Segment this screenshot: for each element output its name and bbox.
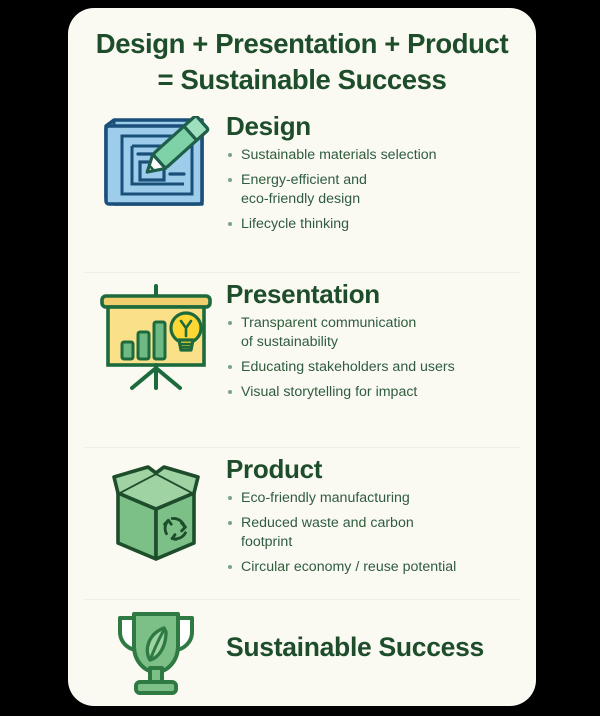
design-bullet-list: Sustainable materials selection Energy-e… xyxy=(226,146,514,233)
presentation-board-icon xyxy=(96,284,216,396)
list-item: Educating stakeholders and users xyxy=(226,358,514,377)
trophy-leaf-icon xyxy=(108,606,204,696)
design-text-container: Design Sustainable materials selection E… xyxy=(226,110,514,240)
list-item: Sustainable materials selection xyxy=(226,146,514,165)
section-presentation: Presentation Transparent communicationof… xyxy=(68,272,536,447)
list-item: Transparent communicationof sustainabili… xyxy=(226,314,514,351)
design-heading: Design xyxy=(226,112,514,142)
infographic-card: Design + Presentation + Product = Sustai… xyxy=(68,8,536,706)
title-line-2: = Sustainable Success xyxy=(94,62,510,98)
section-sustainable-success: Sustainable Success xyxy=(68,599,536,693)
product-text-container: Product Eco-friendly manufacturing Reduc… xyxy=(226,453,514,583)
presentation-text-container: Presentation Transparent communicationof… xyxy=(226,278,514,408)
list-item: Energy-efficient andeco-friendly design xyxy=(226,171,514,208)
recycling-box-icon xyxy=(96,459,216,567)
list-item: Circular economy / reuse potential xyxy=(226,558,514,577)
list-item: Visual storytelling for impact xyxy=(226,383,514,402)
product-icon-container xyxy=(86,453,226,567)
title-line-1: Design + Presentation + Product xyxy=(94,26,510,62)
page-title: Design + Presentation + Product = Sustai… xyxy=(68,8,536,104)
presentation-bullet-list: Transparent communicationof sustainabili… xyxy=(226,314,514,401)
success-icon-container xyxy=(86,600,226,696)
list-item: Reduced waste and carbonfootprint xyxy=(226,514,514,551)
presentation-heading: Presentation xyxy=(226,280,514,310)
success-heading: Sustainable Success xyxy=(226,632,484,663)
list-item: Eco-friendly manufacturing xyxy=(226,489,514,508)
section-product: Product Eco-friendly manufacturing Reduc… xyxy=(68,447,536,599)
product-bullet-list: Eco-friendly manufacturing Reduced waste… xyxy=(226,489,514,576)
section-design: Design Sustainable materials selection E… xyxy=(68,104,536,272)
blueprint-pencil-icon xyxy=(96,116,216,216)
design-icon-container xyxy=(86,110,226,216)
product-heading: Product xyxy=(226,455,514,485)
list-item: Lifecycle thinking xyxy=(226,215,514,234)
presentation-icon-container xyxy=(86,278,226,396)
